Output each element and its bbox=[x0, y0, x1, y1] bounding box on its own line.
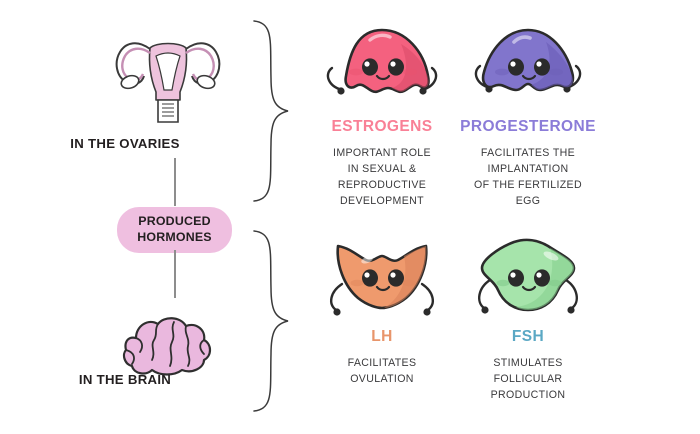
badge-line-1: PRODUCED bbox=[117, 214, 232, 230]
hormones-infographic: IN THE OVARIES PRODUCED HORMONES IN THE … bbox=[0, 0, 700, 434]
hormone-card-lh: LH FACILITATES OVULATION bbox=[306, 234, 458, 387]
fsh-blob-icon bbox=[452, 234, 604, 320]
badge-line-2: HORMONES bbox=[117, 230, 232, 246]
uterus-icon bbox=[108, 26, 228, 124]
lh-blob-icon bbox=[306, 234, 458, 320]
hormone-card-fsh: FSH STIMULATES FOLLICULAR PRODUCTION bbox=[452, 234, 604, 403]
estrogens-blob-icon bbox=[306, 24, 458, 110]
brain-icon bbox=[116, 308, 220, 378]
sources-column: IN THE OVARIES PRODUCED HORMONES IN THE … bbox=[0, 0, 250, 434]
produced-hormones-badge: PRODUCED HORMONES bbox=[117, 207, 232, 253]
hormone-description-estrogens: IMPORTANT ROLE IN SEXUAL & REPRODUCTIVE … bbox=[306, 145, 458, 209]
brace-bottom-icon bbox=[248, 228, 294, 414]
source-label-ovaries: IN THE OVARIES bbox=[0, 136, 250, 151]
connector-line-bottom bbox=[174, 250, 176, 298]
connector-line-top bbox=[174, 158, 176, 206]
hormone-name-lh: LH bbox=[306, 328, 458, 345]
hormone-card-estrogens: ESTROGENS IMPORTANT ROLE IN SEXUAL & REP… bbox=[306, 24, 458, 209]
progesterone-blob-icon bbox=[452, 24, 604, 110]
source-label-brain: IN THE BRAIN bbox=[0, 372, 250, 387]
hormone-description-lh: FACILITATES OVULATION bbox=[306, 355, 458, 387]
hormone-name-progesterone: PROGESTERONE bbox=[452, 118, 604, 135]
hormone-name-estrogens: ESTROGENS bbox=[306, 118, 458, 135]
hormone-description-fsh: STIMULATES FOLLICULAR PRODUCTION bbox=[452, 355, 604, 403]
hormone-card-progesterone: PROGESTERONE FACILITATES THE IMPLANTATIO… bbox=[452, 24, 604, 209]
hormone-description-progesterone: FACILITATES THE IMPLANTATION OF THE FERT… bbox=[452, 145, 604, 209]
brace-top-icon bbox=[248, 18, 294, 204]
hormone-name-fsh: FSH bbox=[452, 328, 604, 345]
